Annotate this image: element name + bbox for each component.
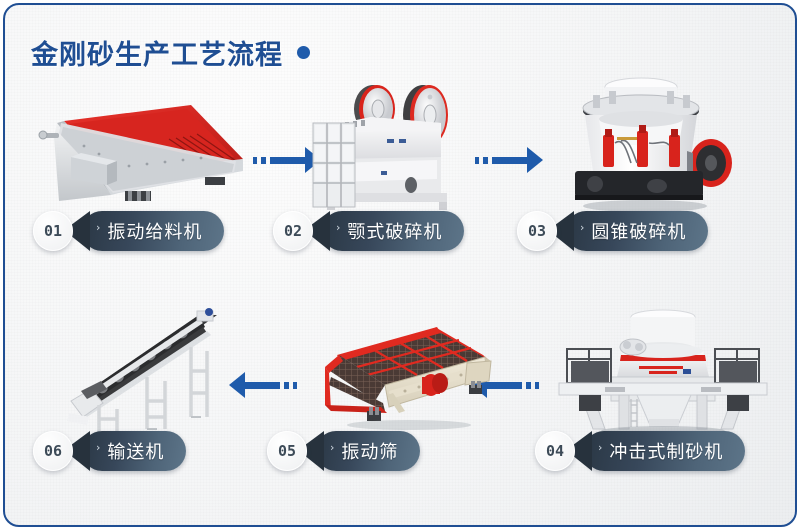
page-title: 金刚砂生产工艺流程 <box>31 33 310 72</box>
stage-04-pill[interactable]: › 冲击式制砂机 <box>566 431 745 471</box>
arrow-dash-icon <box>483 157 488 164</box>
process-flow-card: 金刚砂生产工艺流程 <box>3 3 797 527</box>
chevron-right-icon: › <box>598 441 602 454</box>
stage-06-number: 06 <box>33 431 73 471</box>
stage-05-label-group[interactable]: 05 › 振动筛 <box>267 431 420 471</box>
stage-03-number: 03 <box>517 211 557 251</box>
belt-conveyor-icon <box>57 305 252 435</box>
stage-06-pill[interactable]: › 输送机 <box>64 431 186 471</box>
bullet-dot-icon <box>297 46 310 59</box>
stage-04-image <box>551 303 776 435</box>
stage-04-label-group[interactable]: 04 › 冲击式制砂机 <box>535 431 745 471</box>
stage-01-number: 01 <box>33 211 73 251</box>
arrow-shaft <box>270 157 306 164</box>
stage-05-image <box>309 315 504 435</box>
arrow-02-to-03 <box>475 147 543 173</box>
page-title-text: 金刚砂生产工艺流程 <box>31 33 283 72</box>
stage-04-label: 冲击式制砂机 <box>609 438 723 464</box>
arrow-dash-icon <box>261 157 266 164</box>
stage-06-image <box>57 305 252 435</box>
stage-01-label: 振动给料机 <box>107 218 202 244</box>
arrow-dash-icon <box>535 382 539 389</box>
stage-04-number: 04 <box>535 431 575 471</box>
vsi-sand-maker-icon <box>551 303 776 435</box>
jaw-crusher-icon <box>311 67 491 215</box>
stage-03-label-group[interactable]: 03 › 圆锥破碎机 <box>517 211 708 251</box>
stage-05-number: 05 <box>267 431 307 471</box>
chevron-right-icon: › <box>96 441 100 454</box>
stage-06-label: 输送机 <box>107 438 164 464</box>
stage-03-image <box>553 67 743 215</box>
stage-01-label-group[interactable]: 01 › 振动给料机 <box>33 211 224 251</box>
chevron-right-icon: › <box>580 221 584 234</box>
vibrating-feeder-icon <box>29 93 259 213</box>
stage-05-label: 振动筛 <box>341 438 398 464</box>
stage-02-label: 颚式破碎机 <box>347 218 442 244</box>
chevron-right-icon: › <box>336 221 340 234</box>
stage-02-image <box>311 67 491 215</box>
stage-02-pill[interactable]: › 颚式破碎机 <box>304 211 464 251</box>
arrow-dash-icon <box>526 382 531 389</box>
arrow-dash-icon <box>284 382 289 389</box>
arrow-dash-icon <box>293 382 297 389</box>
stage-01-pill[interactable]: › 振动给料机 <box>64 211 224 251</box>
arrow-dash-icon <box>253 157 257 164</box>
chevron-right-icon: › <box>96 221 100 234</box>
chevron-right-icon: › <box>330 441 334 454</box>
arrow-shaft <box>492 157 528 164</box>
vibrating-screen-icon <box>309 315 504 435</box>
stage-03-pill[interactable]: › 圆锥破碎机 <box>548 211 708 251</box>
stage-02-label-group[interactable]: 02 › 颚式破碎机 <box>273 211 464 251</box>
stage-05-pill[interactable]: › 振动筛 <box>298 431 420 471</box>
stage-06-label-group[interactable]: 06 › 输送机 <box>33 431 186 471</box>
stage-03-label: 圆锥破碎机 <box>591 218 686 244</box>
cone-crusher-icon <box>553 67 743 215</box>
stage-01-image <box>29 93 259 213</box>
arrow-dash-icon <box>475 157 479 164</box>
stage-02-number: 02 <box>273 211 313 251</box>
arrow-head-right-icon <box>527 147 543 173</box>
